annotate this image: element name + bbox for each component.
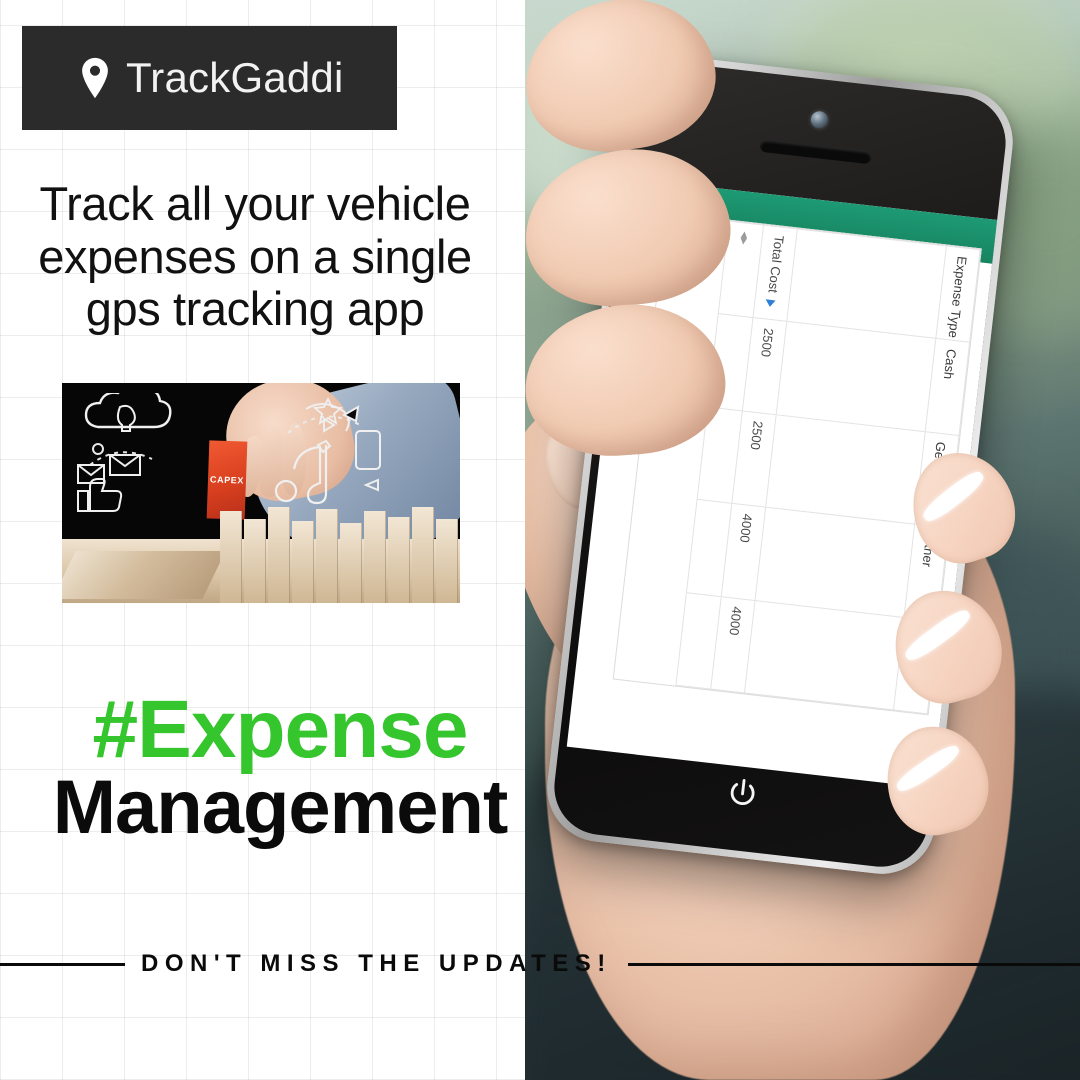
earpiece-speaker-icon bbox=[759, 139, 872, 165]
headline-line-1: Track all your vehicle bbox=[0, 178, 510, 231]
domino bbox=[292, 521, 314, 603]
doodle-icons-right bbox=[270, 393, 430, 533]
banner-rule-left bbox=[0, 963, 125, 966]
left-right-arrows-icon: ◂▸ bbox=[737, 231, 753, 246]
page-title: Track all your vehicle expenses on a sin… bbox=[0, 178, 510, 336]
bottom-banner: DON'T MISS THE UPDATES! bbox=[0, 930, 1080, 998]
front-camera-icon bbox=[810, 110, 829, 129]
domino bbox=[244, 519, 266, 603]
headline-line-2: expenses on a single bbox=[0, 231, 510, 284]
tagline-subject: Management bbox=[0, 770, 525, 846]
domino bbox=[220, 511, 242, 603]
brand-name: TrackGaddi bbox=[126, 54, 344, 102]
sort-ascending-icon[interactable] bbox=[765, 300, 776, 308]
headline-line-3: gps tracking app bbox=[0, 283, 510, 336]
content-panel: TrackGaddi Track all your vehicle expens… bbox=[0, 0, 525, 1080]
domino bbox=[436, 519, 458, 603]
capex-photo: CAPEX bbox=[62, 383, 460, 603]
domino bbox=[316, 509, 338, 603]
power-button[interactable] bbox=[717, 768, 768, 819]
fallen-dominoes bbox=[62, 551, 226, 599]
domino bbox=[268, 507, 290, 603]
brand-logo[interactable]: TrackGaddi bbox=[22, 26, 397, 130]
tagline-hashtag: #Expense bbox=[0, 690, 525, 770]
banner-rule-right bbox=[628, 963, 1080, 966]
location-pin-icon bbox=[78, 57, 112, 99]
cell-label: Total Cost bbox=[765, 235, 786, 294]
phone-photo-panel: Expense Type Cash General Service Other … bbox=[525, 0, 1080, 1080]
power-icon bbox=[723, 774, 763, 814]
domino bbox=[388, 517, 410, 603]
banner-text: DON'T MISS THE UPDATES! bbox=[125, 950, 628, 978]
domino bbox=[412, 507, 434, 603]
tagline: #Expense Management bbox=[0, 690, 525, 846]
domino bbox=[364, 511, 386, 603]
domino bbox=[340, 523, 362, 603]
promo-poster: Expense Type Cash General Service Other … bbox=[0, 0, 1080, 1080]
